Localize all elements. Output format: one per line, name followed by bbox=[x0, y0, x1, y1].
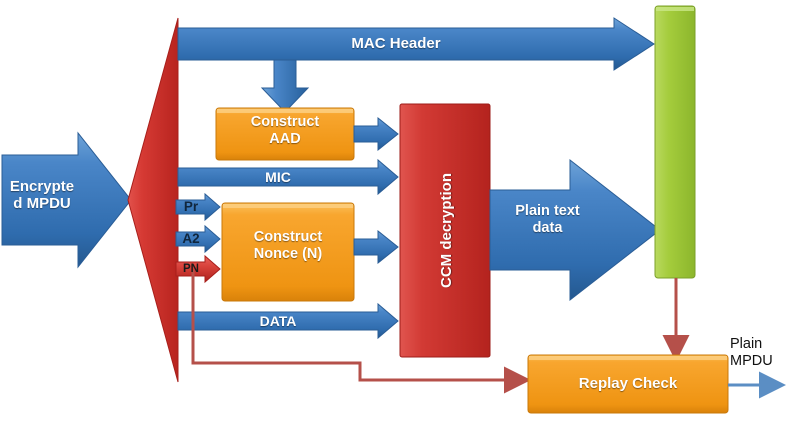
data-arrow bbox=[178, 304, 398, 338]
collector-bar bbox=[655, 6, 695, 278]
aad-to-ccm-arrow bbox=[354, 118, 398, 150]
construct-aad-box bbox=[216, 108, 354, 160]
replay-check-box bbox=[528, 355, 728, 413]
pr-arrow bbox=[176, 194, 220, 220]
a2-arrow bbox=[176, 226, 220, 252]
diagram-canvas: Encrypte d MPDU MAC Header Construct AAD… bbox=[0, 0, 789, 428]
mac-header-arrow bbox=[178, 18, 654, 70]
encrypted-mpdu-input-arrow bbox=[2, 133, 131, 267]
mic-arrow bbox=[178, 160, 398, 194]
construct-nonce-box bbox=[222, 203, 354, 301]
diagram-vector-layer bbox=[0, 0, 789, 428]
ccm-decryption-label: CCM decryption bbox=[438, 173, 455, 288]
plain-mpdu-line2: MPDU bbox=[730, 353, 773, 369]
plain-mpdu-line1: Plain bbox=[730, 336, 762, 352]
plain-mpdu-label: Plain MPDU bbox=[730, 336, 788, 369]
mac-header-to-aad-arrow bbox=[262, 60, 308, 112]
nonce-to-ccm-arrow bbox=[354, 231, 398, 263]
plain-text-data-arrow bbox=[490, 160, 660, 300]
pn-arrow bbox=[176, 256, 220, 282]
red-chevron-splitter bbox=[128, 18, 178, 382]
